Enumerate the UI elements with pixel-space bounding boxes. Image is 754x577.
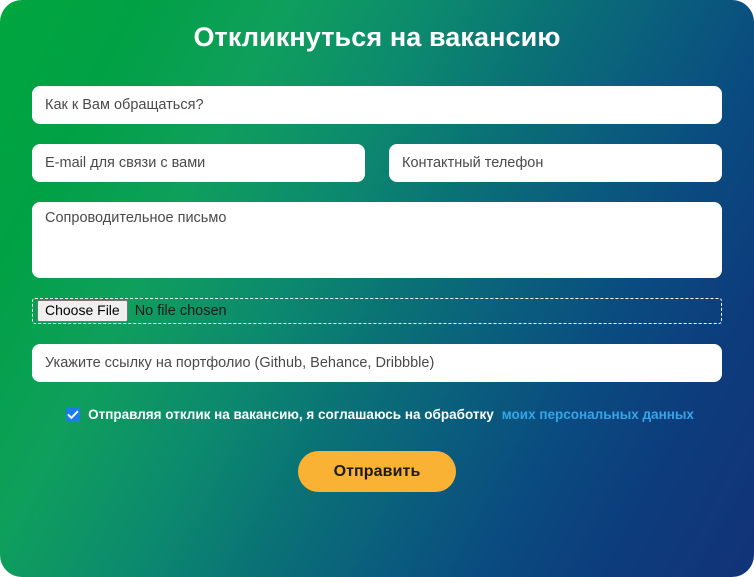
job-application-form-card: Откликнуться на вакансию Choose File No … bbox=[0, 0, 754, 577]
email-input[interactable] bbox=[32, 144, 365, 182]
contact-field-row bbox=[32, 144, 722, 182]
consent-row: Отправляя отклик на вакансию, я соглашаю… bbox=[32, 406, 722, 424]
phone-input[interactable] bbox=[389, 144, 722, 182]
checkmark-icon bbox=[67, 409, 79, 421]
portfolio-field-row bbox=[32, 344, 722, 382]
consent-label: Отправляя отклик на вакансию, я соглашаю… bbox=[88, 406, 494, 424]
personal-data-link[interactable]: моих персональных данных bbox=[502, 406, 694, 424]
cover-letter-row bbox=[32, 202, 722, 278]
cover-letter-textarea[interactable] bbox=[32, 202, 722, 278]
application-root: Откликнуться на вакансию Choose File No … bbox=[0, 0, 754, 577]
portfolio-input[interactable] bbox=[32, 344, 722, 382]
file-input[interactable]: Choose File No file chosen bbox=[32, 298, 722, 324]
name-field-row bbox=[32, 86, 722, 124]
choose-file-button[interactable]: Choose File bbox=[37, 300, 128, 322]
submit-row: Отправить bbox=[32, 451, 722, 492]
submit-button[interactable]: Отправить bbox=[298, 451, 457, 492]
name-input[interactable] bbox=[32, 86, 722, 124]
consent-checkbox[interactable] bbox=[66, 408, 80, 422]
file-status-text: No file chosen bbox=[135, 303, 227, 320]
page-title: Откликнуться на вакансию bbox=[0, 0, 754, 54]
file-upload-row: Choose File No file chosen bbox=[32, 298, 722, 324]
form-body: Choose File No file chosen Отправляя отк… bbox=[0, 86, 754, 492]
